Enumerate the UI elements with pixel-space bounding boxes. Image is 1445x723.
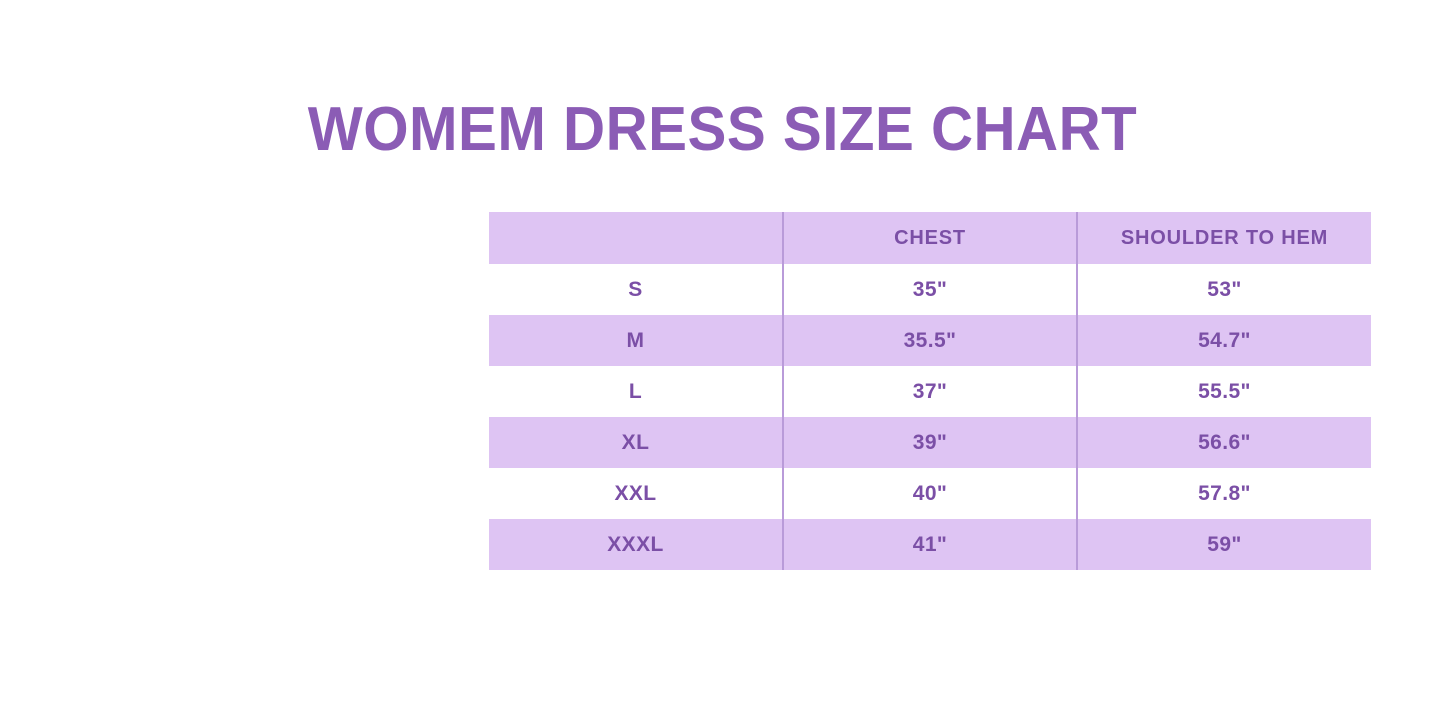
cell-chest: 35" — [783, 264, 1077, 315]
table-body: S 35" 53" M 35.5" 54.7" L 37" 55.5" XL 3… — [489, 264, 1371, 570]
table-row: M 35.5" 54.7" — [489, 315, 1371, 366]
cell-size: L — [489, 366, 783, 417]
size-chart-table: CHEST SHOULDER TO HEM S 35" 53" M 35.5" … — [489, 212, 1371, 570]
column-header-chest: CHEST — [783, 212, 1077, 264]
cell-shoulder-to-hem: 54.7" — [1077, 315, 1371, 366]
cell-shoulder-to-hem: 56.6" — [1077, 417, 1371, 468]
cell-shoulder-to-hem: 55.5" — [1077, 366, 1371, 417]
table-row: XXXL 41" 59" — [489, 519, 1371, 570]
cell-chest: 41" — [783, 519, 1077, 570]
cell-size: XXL — [489, 468, 783, 519]
table-header: CHEST SHOULDER TO HEM — [489, 212, 1371, 264]
cell-size: M — [489, 315, 783, 366]
table-row: XXL 40" 57.8" — [489, 468, 1371, 519]
cell-chest: 39" — [783, 417, 1077, 468]
cell-chest: 37" — [783, 366, 1077, 417]
size-chart-table-container: CHEST SHOULDER TO HEM S 35" 53" M 35.5" … — [489, 212, 1371, 570]
table-row: S 35" 53" — [489, 264, 1371, 315]
table-header-row: CHEST SHOULDER TO HEM — [489, 212, 1371, 264]
table-row: XL 39" 56.6" — [489, 417, 1371, 468]
cell-shoulder-to-hem: 59" — [1077, 519, 1371, 570]
cell-chest: 40" — [783, 468, 1077, 519]
cell-size: S — [489, 264, 783, 315]
page-title: WOMEM DRESS SIZE CHART — [43, 94, 1401, 166]
cell-size: XL — [489, 417, 783, 468]
table-row: L 37" 55.5" — [489, 366, 1371, 417]
size-chart-page: WOMEM DRESS SIZE CHART CHEST SHOULDER TO… — [0, 0, 1445, 723]
cell-shoulder-to-hem: 57.8" — [1077, 468, 1371, 519]
cell-chest: 35.5" — [783, 315, 1077, 366]
column-header-shoulder-to-hem: SHOULDER TO HEM — [1077, 212, 1371, 264]
cell-shoulder-to-hem: 53" — [1077, 264, 1371, 315]
cell-size: XXXL — [489, 519, 783, 570]
column-header-size — [489, 212, 783, 264]
